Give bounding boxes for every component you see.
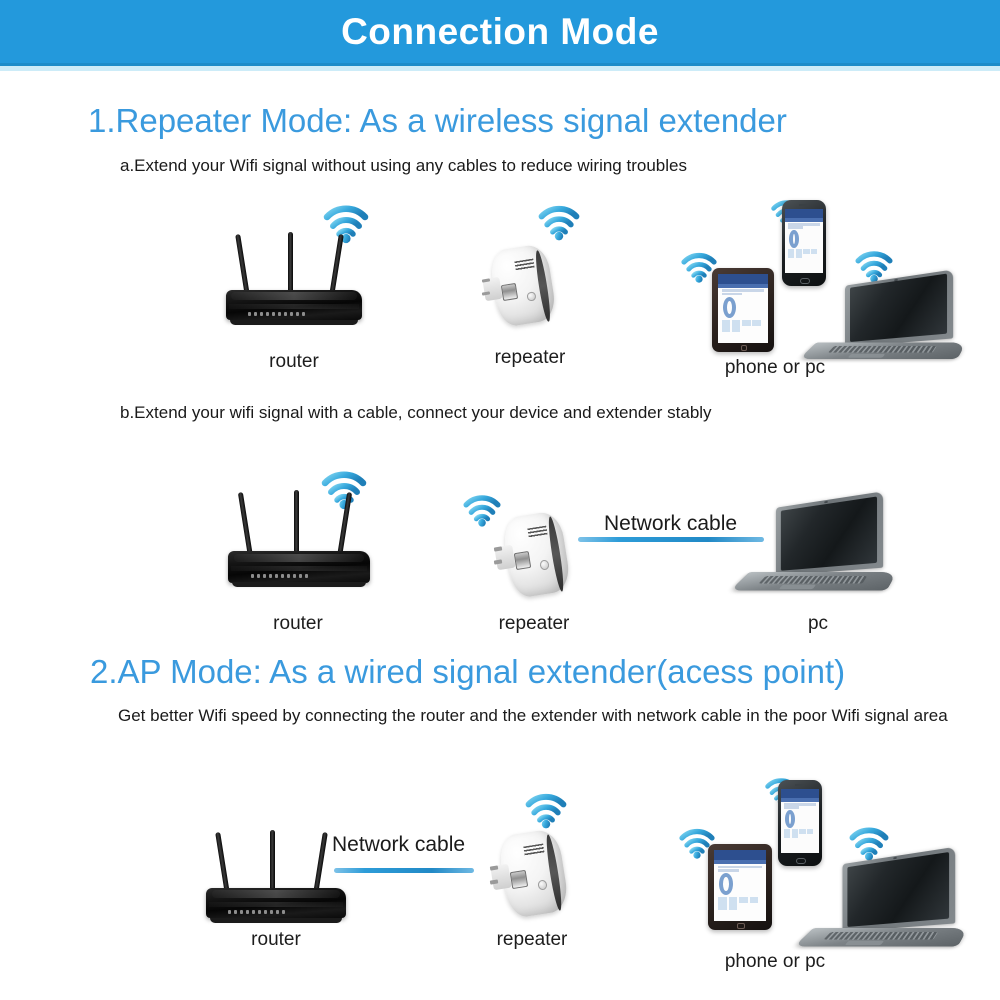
label-router-row-b: router [238,614,358,633]
tablet-home-button [741,345,748,350]
screen-header-bar [718,274,769,284]
repeater-ethernet-port [501,283,518,301]
screen-header-bar [785,209,823,218]
laptop-keys [759,576,868,584]
router-antenna [329,234,344,296]
screen-tiles [784,829,816,838]
screen-nav-bar [781,798,819,802]
screen-chart [789,230,799,248]
repeater-ethernet-port [514,551,532,570]
router-device-ap [206,830,346,922]
screen-tiles [718,897,762,909]
laptop-screen [850,274,948,342]
smartphone-device-ap [778,780,822,866]
label-repeater-ap: repeater [472,930,592,949]
router-body [228,551,370,583]
label-router-ap: router [216,930,336,949]
screen-text-line [722,293,742,295]
router-leds [251,574,308,578]
label-pc-row-b: pc [758,614,878,633]
network-cable-label-ap: Network cable [332,834,465,855]
screen-text-line [784,803,816,805]
page-title: Connection Mode [341,13,659,50]
label-clients-row-a: phone or pc [700,358,850,377]
screen-tiles [722,320,765,332]
router-antenna [288,232,293,296]
label-repeater-row-a: repeater [470,348,590,367]
section-1-heading: 1.Repeater Mode: As a wireless signal ex… [88,104,787,137]
repeater-wps-button [537,879,547,890]
laptop-trackpad [778,585,815,589]
smartphone-device-row-a [782,200,826,286]
screen-header-bar [714,850,766,860]
laptop-keys [824,932,938,940]
section-2-subtext: Get better Wifi speed by connecting the … [118,705,948,728]
network-cable-line-row-b [578,537,764,542]
wifi-signal-icon [524,788,568,830]
repeater-ethernet-port [510,870,528,890]
router-base [230,320,358,325]
screen-text-line [784,806,799,808]
screen-text-line [788,223,820,225]
network-cable-label-row-b: Network cable [604,513,737,534]
router-highlight [234,554,365,562]
repeater-device-ap [490,828,572,920]
repeater-plug-prong [490,879,499,884]
laptop-screen [781,496,877,571]
screen-chart [719,873,733,895]
router-base [210,918,342,923]
router-leds [248,312,305,316]
router-antenna [270,830,275,894]
page-header: Connection Mode [0,0,1000,66]
router-base [232,582,365,587]
section-1-row-b-subtext: b.Extend your wifi signal with a cable, … [120,402,712,425]
laptop-lid [845,269,954,346]
laptop-lid [842,847,955,932]
tablet-device-ap [708,844,772,930]
tablet-home-button [737,923,744,928]
screen-header-bar [781,789,819,798]
laptop-device-row-b [740,500,898,600]
laptop-screen [847,852,948,927]
laptop-keyboard-deck [794,928,968,946]
router-highlight [229,304,360,309]
screen-tiles [788,249,820,258]
laptop-keyboard-deck [730,572,896,590]
screen-nav-bar [718,284,769,288]
label-router-row-a: router [234,352,354,371]
tablet-screen [714,850,766,921]
router-highlight [231,566,367,571]
router-device-row-a [226,232,362,324]
router-antenna [238,492,253,558]
laptop-trackpad [848,354,885,358]
screen-chart [785,810,795,828]
wifi-signal-icon [537,200,581,242]
router-antenna [235,234,250,296]
screen-text-line [718,866,762,868]
header-underline [0,66,1000,71]
router-leds [228,910,285,914]
phone-screen [785,209,823,273]
screen-nav-bar [785,218,823,222]
router-highlight [231,292,356,300]
phone-screen [781,789,819,853]
screen-text-line [722,289,765,291]
laptop-keys [827,346,937,353]
label-clients-ap: phone or pc [700,952,850,971]
screen-nav-bar [714,860,766,864]
screen-text-line [788,226,803,228]
router-body [226,290,362,320]
router-device-row-b [228,490,370,586]
laptop-device-ap [804,856,970,956]
tablet-screen [718,274,769,343]
router-antenna [313,832,328,894]
repeater-device-row-a [482,244,560,330]
router-highlight [212,890,341,898]
router-antenna [294,490,299,558]
laptop-trackpad [845,941,884,945]
router-body [206,888,346,918]
router-antenna [215,832,230,894]
network-cable-line-ap [334,868,474,873]
label-repeater-row-b: repeater [474,614,594,633]
screen-chart [723,297,736,318]
laptop-lid [776,491,883,576]
repeater-device-row-b [494,510,574,600]
router-antenna [337,492,352,558]
section-1-row-a-subtext: a.Extend your Wifi signal without using … [120,155,687,178]
screen-text-line [718,869,739,871]
section-2-heading: 2.AP Mode: As a wired signal extender(ac… [90,655,845,688]
router-highlight [209,902,343,907]
laptop-device-row-a [808,278,968,368]
tablet-device-row-a [712,268,774,352]
